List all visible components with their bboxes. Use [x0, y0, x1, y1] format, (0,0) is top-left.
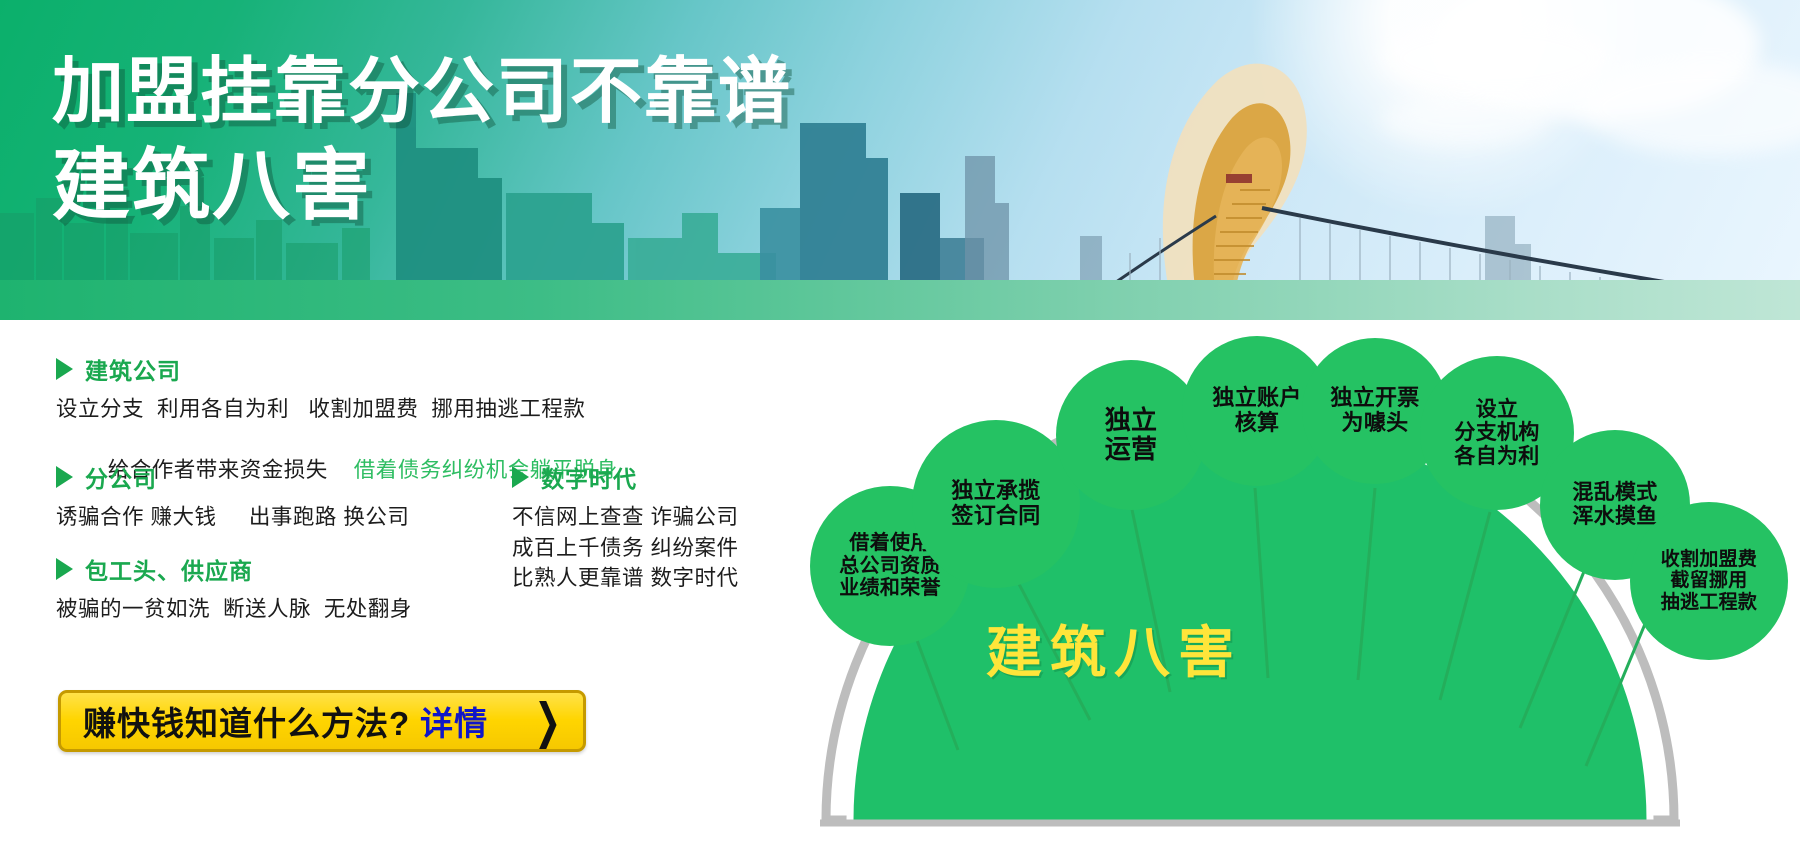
section-line: 被骗的一贫如洗 断送人脉 无处翻身: [56, 594, 412, 625]
bubble-line: 运营: [1101, 435, 1162, 464]
bubble-line: 设立: [1450, 398, 1543, 422]
cta-detail-link[interactable]: 详情: [420, 697, 488, 745]
section-heading: 数字时代: [512, 460, 738, 494]
poster-root: 加盟挂靠分公司不靠谱 建筑八害 建筑公司 设立分支 利用各自为利 收割加盟费 挪…: [0, 0, 1800, 844]
bubble-line: 各自为利: [1450, 445, 1543, 469]
section-heading: 建筑公司: [56, 352, 618, 386]
bubble-line: 截留挪用: [1657, 570, 1762, 591]
section-line: 不信网上查查 诈骗公司: [512, 502, 738, 533]
section-line: 诱骗合作 赚大钱 出事跑路 换公司: [56, 502, 409, 533]
dome-label: 建筑八害: [986, 608, 1242, 689]
section-title: 分公司: [85, 460, 157, 494]
bubble-line: 收割加盟费: [1657, 549, 1762, 570]
section-line: 成百上千债务 纠纷案件: [512, 533, 738, 564]
bubble-line: 为噱头: [1326, 411, 1423, 436]
section-heading: 分公司: [56, 460, 409, 494]
bubble-line: 抽逃工程款: [1657, 592, 1762, 613]
section-line: 设立分支 利用各自为利 收割加盟费 挪用抽逃工程款: [56, 394, 618, 425]
bubble-independent-contract[interactable]: 独立承揽 签订合同: [912, 420, 1080, 588]
bubble-line: 独立: [1101, 406, 1162, 435]
hero-banner: 加盟挂靠分公司不靠谱 建筑八害: [0, 0, 1800, 320]
bubble-harvest-fees[interactable]: 收割加盟费 截留挪用 抽逃工程款: [1630, 502, 1788, 660]
bubble-line: 业绩和荣誉: [835, 577, 945, 599]
hero-title-line1: 加盟挂靠分公司不靠谱: [52, 56, 792, 128]
triangle-bullet-icon: [512, 466, 529, 488]
cta-label: 赚快钱知道什么方法?: [83, 697, 410, 745]
diagram-panel: 借着使用 总公司资质 业绩和荣誉 独立承揽 签订合同 独立 运营 独立账户 核算: [790, 320, 1800, 844]
section-line: 比熟人更靠谱 数字时代: [512, 563, 738, 594]
bubble-independent-operation[interactable]: 独立 运营: [1056, 360, 1206, 510]
bubble-line: 混乱模式: [1568, 481, 1661, 505]
bubble-line: 核算: [1208, 411, 1305, 436]
hero-ground-band: [0, 280, 1800, 320]
chevron-right-icon: ❯: [534, 697, 561, 745]
hero-title-line2: 建筑八害: [52, 146, 792, 224]
page-title: 加盟挂靠分公司不靠谱 建筑八害: [52, 56, 792, 224]
triangle-bullet-icon: [56, 466, 73, 488]
left-content-panel: 建筑公司 设立分支 利用各自为利 收割加盟费 挪用抽逃工程款 给合作者带来资金损…: [0, 320, 790, 844]
section-branch-company: 分公司 诱骗合作 赚大钱 出事跑路 换公司: [56, 460, 409, 533]
section-title: 数字时代: [541, 460, 637, 494]
bubble-line: 浑水摸鱼: [1568, 505, 1661, 529]
triangle-bullet-icon: [56, 558, 73, 580]
section-title: 包工头、供应商: [85, 552, 253, 586]
section-digital-era: 数字时代 不信网上查查 诈骗公司 成百上千债务 纠纷案件 比熟人更靠谱 数字时代: [512, 460, 738, 594]
bubble-line: 签订合同: [947, 504, 1044, 529]
section-contractor-supplier: 包工头、供应商 被骗的一贫如洗 断送人脉 无处翻身: [56, 552, 412, 625]
cta-button[interactable]: 赚快钱知道什么方法? 详情 ❯: [58, 690, 586, 752]
bubble-line: 独立开票: [1326, 386, 1423, 411]
section-title: 建筑公司: [85, 352, 181, 386]
section-heading: 包工头、供应商: [56, 552, 412, 586]
bubble-line: 分支机构: [1450, 421, 1543, 445]
bubble-line: 独立承揽: [947, 479, 1044, 504]
bubble-line: 独立账户: [1208, 386, 1305, 411]
triangle-bullet-icon: [56, 358, 73, 380]
bubble-line: 总公司资质: [835, 555, 945, 577]
